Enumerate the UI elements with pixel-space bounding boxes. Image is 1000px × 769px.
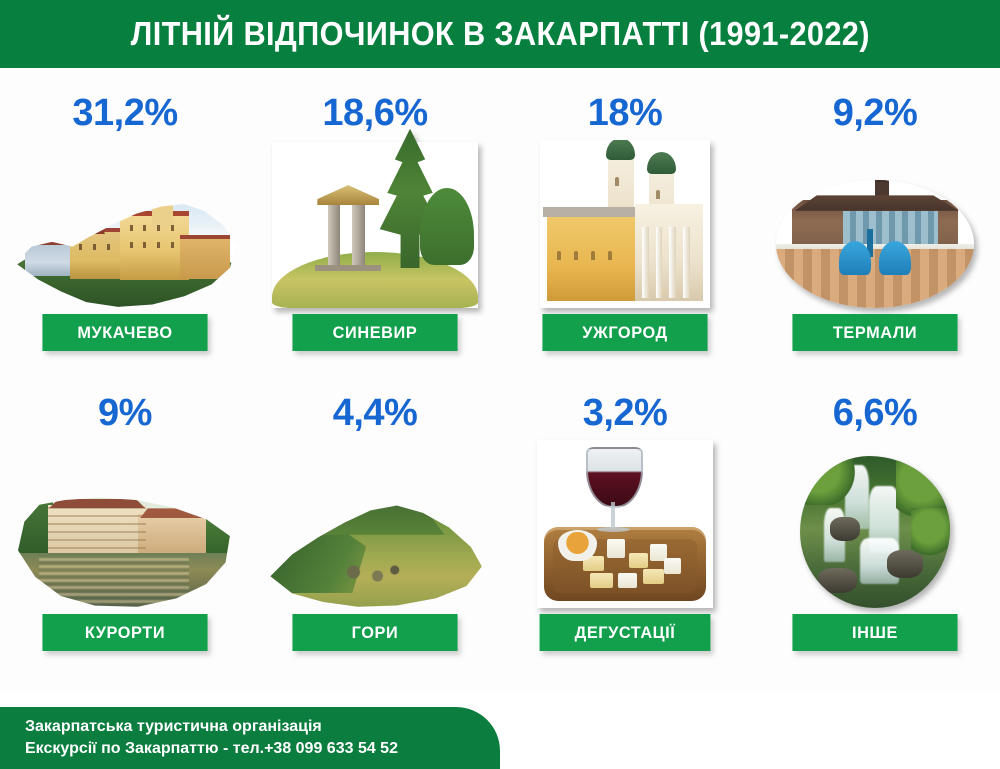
synevyr-forest-gate-image <box>272 142 478 308</box>
header-bar: ЛІТНІЙ ВІДПОЧИНОК В ЗАКАРПАТТІ (1991-202… <box>0 0 1000 68</box>
page-title: ЛІТНІЙ ВІДПОЧИНОК В ЗАКАРПАТТІ (1991-202… <box>130 15 869 53</box>
stat-card-degustacii[interactable]: 3,2% <box>500 376 750 676</box>
stat-percent: 6,6% <box>833 394 918 436</box>
stat-card-hory[interactable]: 4,4% ГОРИ <box>250 376 500 676</box>
organization-name: Закарпатська туристична організація <box>25 716 500 738</box>
infographic-board: 31,2% <box>0 68 1000 693</box>
stat-percent: 3,2% <box>583 394 668 436</box>
stat-label-chip[interactable]: УЖГОРОД <box>542 314 707 351</box>
stat-label-chip[interactable]: ІНШЕ <box>792 614 957 651</box>
stat-label-chip[interactable]: МУКАЧЕВО <box>42 314 207 351</box>
stat-label-chip[interactable]: КУРОРТИ <box>42 614 207 651</box>
stat-illustration-wrap <box>9 140 241 308</box>
stat-card-termaly[interactable]: 9,2% ТЕРМАЛИ <box>750 76 1000 376</box>
stat-card-synevyr[interactable]: 18,6% СИНЕВИР <box>250 76 500 376</box>
stat-label-chip[interactable]: СИНЕВИР <box>292 314 457 351</box>
stat-percent: 9,2% <box>833 94 918 136</box>
stat-illustration-wrap <box>9 440 241 608</box>
stat-percent: 18% <box>588 94 663 136</box>
stat-illustration-wrap <box>509 140 741 308</box>
stat-illustration-wrap <box>259 140 491 308</box>
stat-illustration-wrap <box>259 440 491 608</box>
stat-percent: 4,4% <box>333 394 418 436</box>
sanatorium-lake-image <box>18 488 232 608</box>
stat-card-mukachevo[interactable]: 31,2% <box>0 76 250 376</box>
stat-card-uzhhorod[interactable]: 18% <box>500 76 750 376</box>
stat-label-chip[interactable]: ГОРИ <box>292 614 457 651</box>
stat-percent: 18,6% <box>322 94 427 136</box>
mountain-ridge-image <box>266 486 484 608</box>
stat-row-2: 9% КУРОРТИ <box>0 376 1000 676</box>
stat-illustration-wrap <box>759 440 991 608</box>
uzhhorod-cathedral-image <box>540 140 710 308</box>
thermal-resort-pool-image <box>776 180 974 308</box>
stat-card-kurorty[interactable]: 9% КУРОРТИ <box>0 376 250 676</box>
stat-card-inshe[interactable]: 6,6% ІНШЕ <box>750 376 1000 676</box>
stat-label-chip[interactable]: ДЕГУСТАЦІЇ <box>540 614 711 651</box>
mukachevo-castle-image <box>11 190 239 308</box>
stat-percent: 9% <box>98 394 152 436</box>
waterfall-image <box>800 456 950 608</box>
wine-cheese-board-image <box>537 440 713 608</box>
stat-label-chip[interactable]: ТЕРМАЛИ <box>792 314 957 351</box>
stat-row-1: 31,2% <box>0 76 1000 376</box>
stat-illustration-wrap <box>509 440 741 608</box>
stat-percent: 31,2% <box>72 94 177 136</box>
footer-banner: Закарпатська туристична організація Екск… <box>0 707 500 769</box>
stat-illustration-wrap <box>759 140 991 308</box>
contact-phone: Екскурсії по Закарпаттю - тел.+38 099 63… <box>25 738 500 760</box>
